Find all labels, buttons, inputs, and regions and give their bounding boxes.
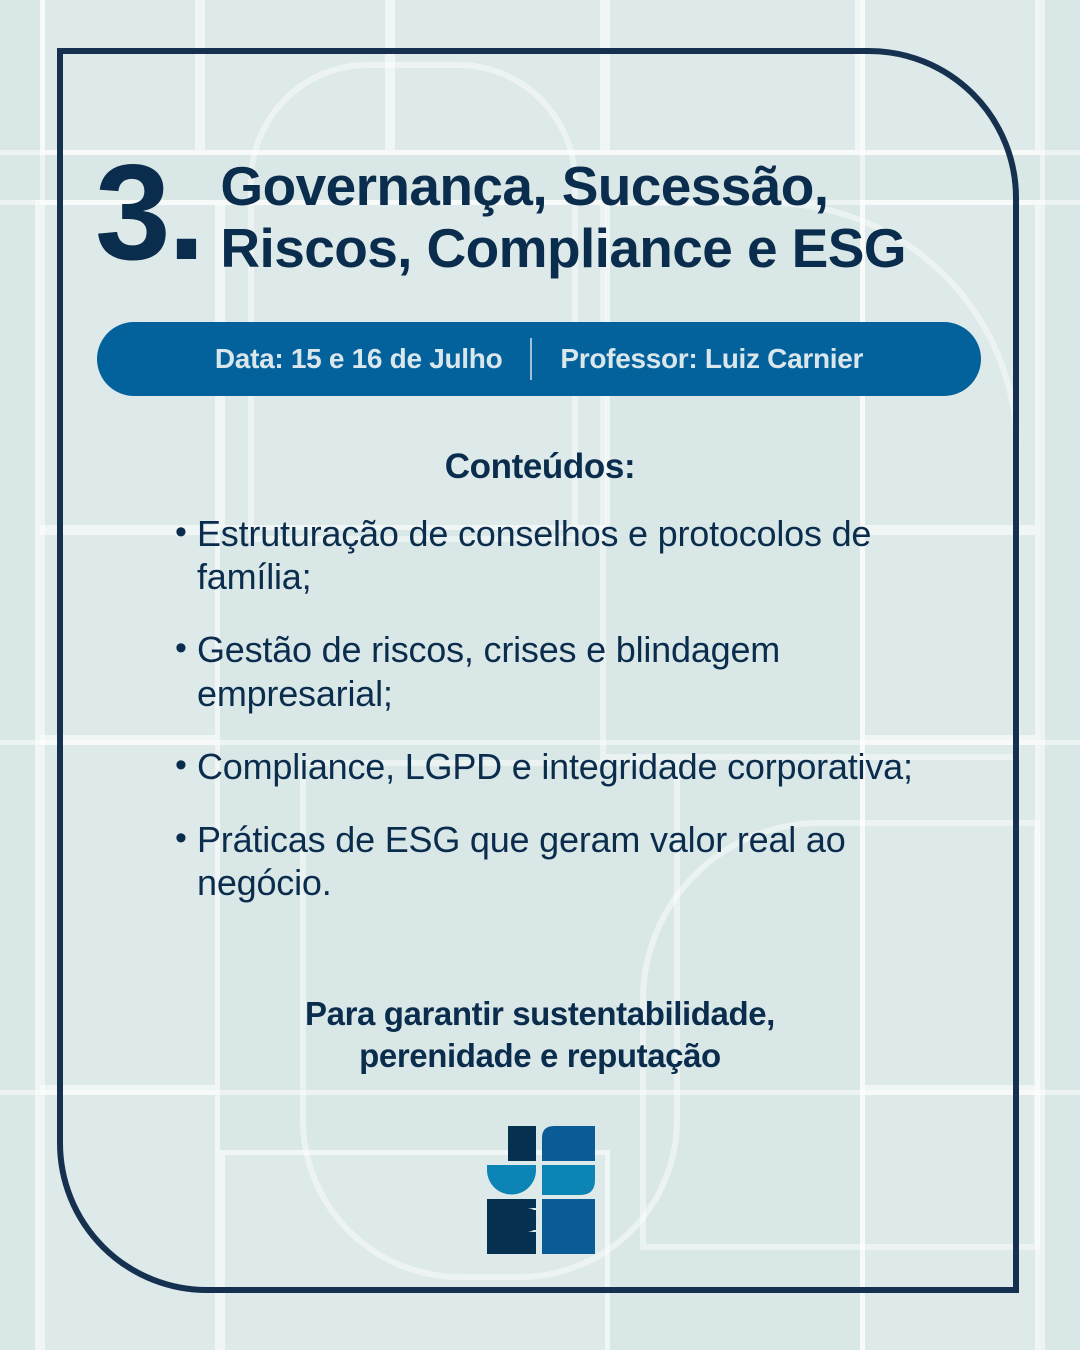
list-item-text: Compliance, LGPD e integridade corporati…: [197, 745, 913, 788]
header: 3. Governança, Sucessão, Riscos, Complia…: [95, 150, 985, 279]
list-item-text: Gestão de riscos, crises e blindagem emp…: [197, 628, 935, 714]
list-item-text: Práticas de ESG que geram valor real ao …: [197, 818, 935, 904]
list-item-text: Estruturação de conselhos e protocolos d…: [197, 512, 935, 598]
tagline-line-1: Para garantir sustentabilidade,: [0, 993, 1080, 1035]
banner-date: Data: 15 e 16 de Julho: [215, 343, 503, 375]
module-number: 3.: [95, 150, 202, 271]
list-item: • Estruturação de conselhos e protocolos…: [175, 512, 935, 598]
poster-canvas: 3. Governança, Sucessão, Riscos, Complia…: [0, 0, 1080, 1350]
contents-list: • Estruturação de conselhos e protocolos…: [175, 512, 935, 934]
bullet-marker-icon: •: [175, 512, 197, 552]
bullet-marker-icon: •: [175, 628, 197, 668]
list-item: • Práticas de ESG que geram valor real a…: [175, 818, 935, 904]
bullet-marker-icon: •: [175, 818, 197, 858]
banner-professor: Professor: Luiz Carnier: [560, 343, 863, 375]
info-banner: Data: 15 e 16 de Julho Professor: Luiz C…: [97, 322, 981, 396]
tagline-line-2: perenidade e reputação: [0, 1035, 1080, 1077]
bullet-marker-icon: •: [175, 745, 197, 785]
tagline: Para garantir sustentabilidade, perenida…: [0, 993, 1080, 1077]
contents-heading: Conteúdos:: [0, 447, 1080, 487]
list-item: • Compliance, LGPD e integridade corpora…: [175, 745, 935, 788]
page-title-line-1: Governança, Sucessão,: [220, 156, 906, 218]
company-logo: [487, 1126, 595, 1254]
banner-divider: [530, 338, 532, 380]
page-title-line-2: Riscos, Compliance e ESG: [220, 218, 906, 280]
logo-icon: [487, 1126, 595, 1254]
list-item: • Gestão de riscos, crises e blindagem e…: [175, 628, 935, 714]
